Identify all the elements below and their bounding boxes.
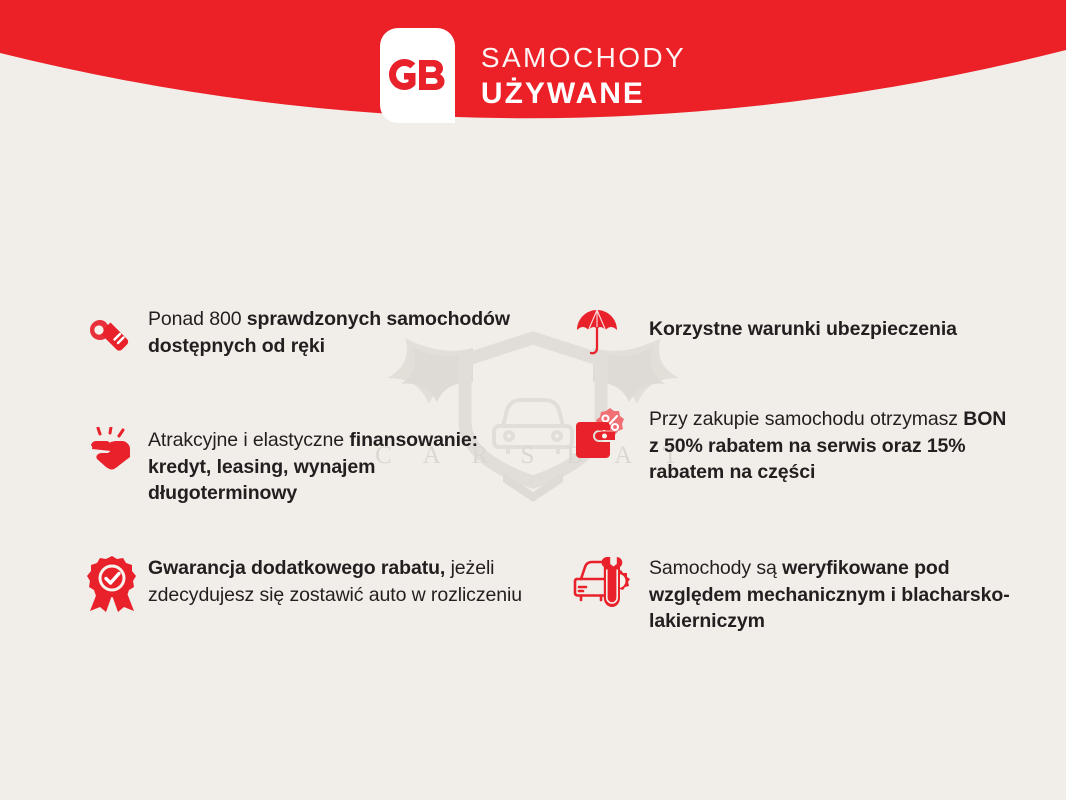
wallet-with-percent-discount-icon	[573, 406, 627, 462]
car-key-with-tag-icon	[86, 306, 134, 354]
umbrella-icon	[575, 306, 619, 358]
feature-icon-slot	[86, 306, 148, 354]
car-with-wrench-and-gear-icon	[573, 555, 633, 611]
brand-title-line2: UŻYWANE	[481, 79, 686, 109]
feature-icon-slot	[571, 406, 649, 462]
brand-title: SAMOCHODY UŻYWANE	[481, 42, 686, 109]
feature-icon-slot	[86, 427, 148, 473]
feature-text: Atrakcyjne i elastyczne finansowanie: kr…	[148, 427, 516, 507]
handshake-icon	[86, 427, 136, 473]
brand-lockup: SAMOCHODY UŻYWANE	[0, 0, 1066, 150]
gb-monogram-icon	[389, 58, 445, 92]
feature-text: Ponad 800 sprawdzonych samochodów dostęp…	[148, 306, 516, 359]
feature-item-inspection: Samochody są weryfikowane pod względem m…	[571, 555, 1021, 635]
gb-logo-box	[380, 28, 455, 123]
feature-text: Samochody są weryfikowane pod względem m…	[649, 555, 1021, 635]
feature-icon-slot	[571, 555, 649, 611]
feature-item-insurance: Korzystne warunki ubezpieczenia	[571, 306, 1021, 358]
feature-text: Gwarancja dodatkowego rabatu, jeżeli zde…	[148, 555, 536, 608]
brand-title-line1: SAMOCHODY	[481, 44, 686, 72]
feature-text: Przy zakupie samochodu otrzymasz BON z 5…	[649, 406, 1021, 486]
feature-text: Korzystne warunki ubezpieczenia	[649, 306, 957, 343]
feature-icon-slot	[571, 306, 649, 358]
feature-item-service-voucher: Przy zakupie samochodu otrzymasz BON z 5…	[571, 406, 1021, 486]
promo-banner: SAMOCHODY UŻYWANE	[0, 0, 1066, 800]
award-rosette-check-icon	[86, 555, 138, 613]
feature-item-available-cars: Ponad 800 sprawdzonych samochodów dostęp…	[86, 306, 516, 359]
feature-item-financing: Atrakcyjne i elastyczne finansowanie: kr…	[86, 427, 516, 507]
feature-item-trade-in-discount: Gwarancja dodatkowego rabatu, jeżeli zde…	[86, 555, 536, 613]
feature-icon-slot	[86, 555, 148, 613]
header-banner: SAMOCHODY UŻYWANE	[0, 0, 1066, 175]
